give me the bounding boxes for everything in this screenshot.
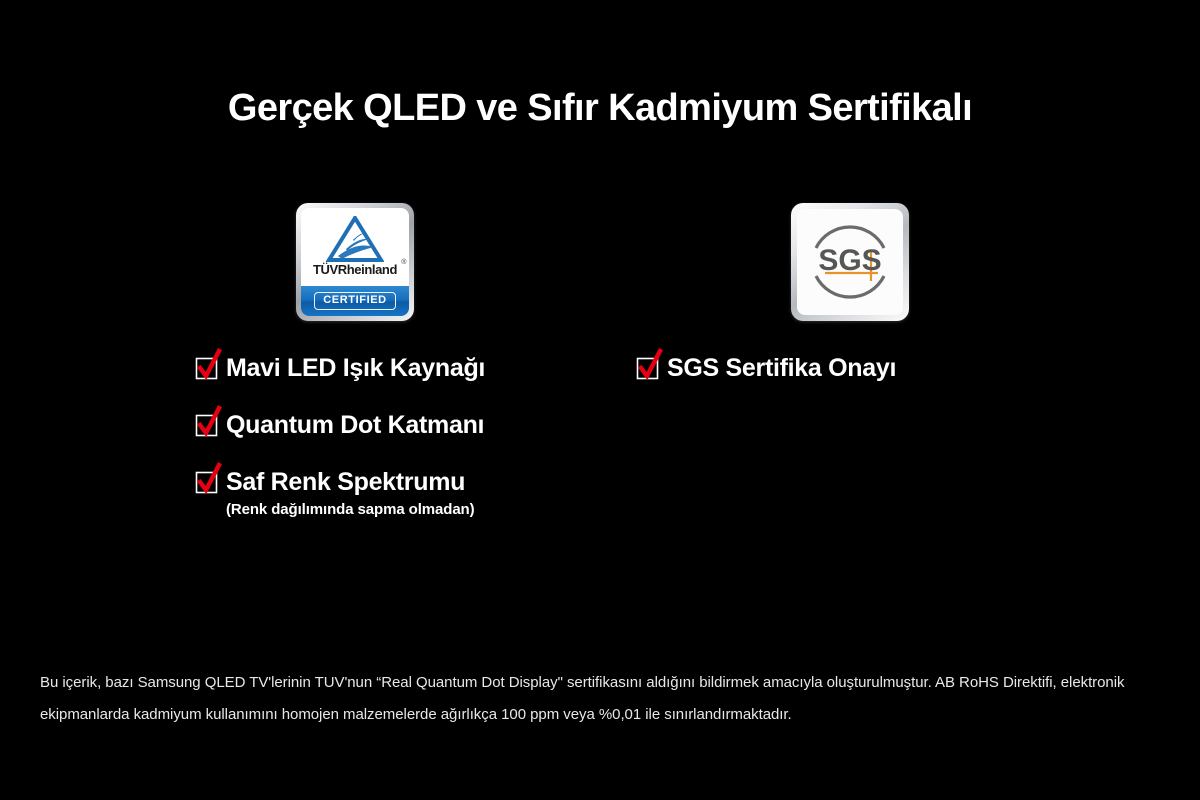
checked-checkbox-icon — [196, 415, 217, 436]
feature-sublabel: (Renk dağılımında sapma olmadan) — [226, 500, 475, 520]
feature-label: Saf Renk Spektrumu — [226, 466, 475, 499]
tuv-plate: TÜVRheinland ® CERTIFIED — [296, 203, 414, 321]
list-item: SGS Sertifika Onayı — [637, 352, 1097, 385]
promo-canvas: Gerçek QLED ve Sıfır Kadmiyum Sertifikal… — [0, 0, 1200, 800]
list-item: Saf Renk Spektrumu (Renk dağılımında sap… — [196, 466, 616, 520]
page-title: Gerçek QLED ve Sıfır Kadmiyum Sertifikal… — [0, 85, 1200, 131]
disclaimer-text: Bu içerik, bazı Samsung QLED TV'lerinin … — [40, 667, 1168, 731]
checked-checkbox-icon — [196, 358, 217, 379]
list-item: Mavi LED Işık Kaynağı — [196, 352, 616, 385]
list-item: Quantum Dot Katmanı — [196, 409, 616, 442]
tuv-triangle-icon — [326, 216, 384, 262]
checked-checkbox-icon — [637, 358, 658, 379]
tuv-certified-label: CERTIFIED — [314, 292, 395, 310]
sgs-wordmark-text: SGS — [818, 244, 881, 277]
feature-label: Quantum Dot Katmanı — [226, 409, 484, 442]
feature-label: Mavi LED Işık Kaynağı — [226, 352, 485, 385]
registered-trademark-icon: ® — [401, 256, 406, 270]
checked-checkbox-icon — [196, 472, 217, 493]
sgs-logo-icon: SGS — [803, 215, 897, 309]
sgs-plate: SGS — [791, 203, 909, 321]
feature-label: SGS Sertifika Onayı — [667, 352, 896, 385]
tuv-certified-bar: CERTIFIED — [301, 286, 409, 316]
certification-badges: TÜVRheinland ® CERTIFIED — [0, 203, 1200, 323]
sgs-badge: SGS — [791, 203, 909, 321]
sgs-plate-inner: SGS — [797, 209, 903, 315]
feature-column-left: Mavi LED Işık Kaynağı Quantum Dot Katman… — [196, 352, 616, 544]
tuv-wordmark-text: TÜVRheinland — [313, 262, 397, 277]
feature-column-right: SGS Sertifika Onayı — [637, 352, 1097, 409]
tuv-plate-inner: TÜVRheinland ® CERTIFIED — [301, 208, 409, 316]
tuv-wordmark: TÜVRheinland ® — [313, 263, 397, 277]
tuv-rheinland-badge: TÜVRheinland ® CERTIFIED — [296, 203, 414, 321]
